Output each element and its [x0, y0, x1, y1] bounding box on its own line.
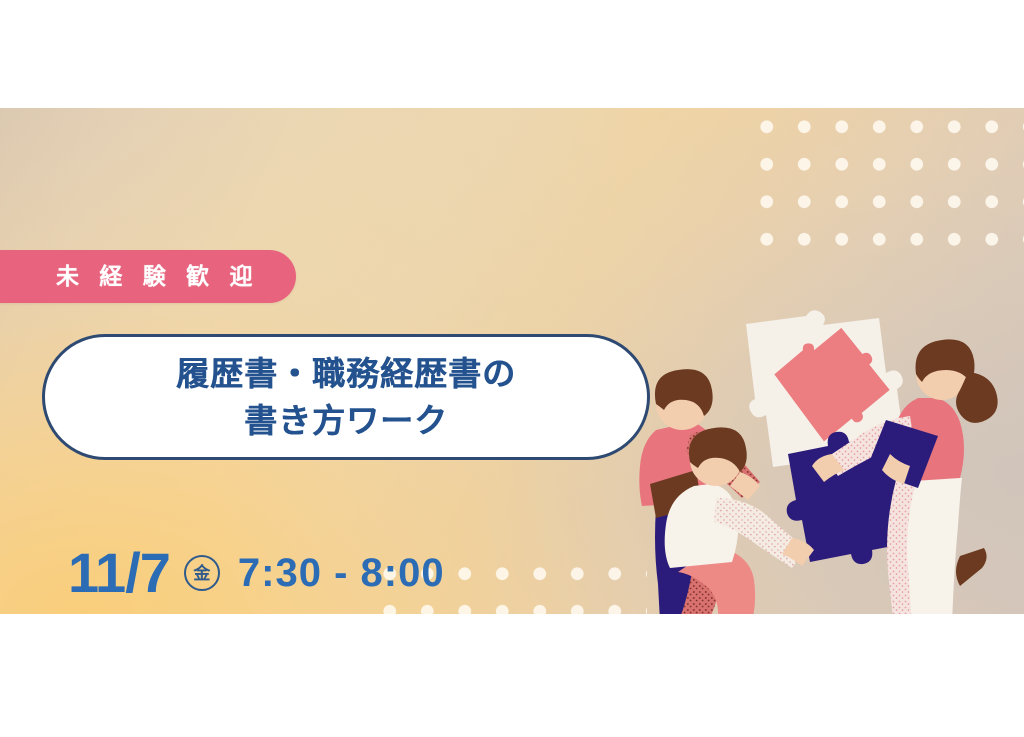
- event-time: 7:30 - 8:00: [238, 553, 445, 593]
- event-title-pill: 履歴書・職務経歴書の 書き方ワーク: [42, 334, 650, 460]
- weekday-circle-icon: 金: [184, 555, 220, 591]
- puzzle-people-illustration: [620, 308, 1024, 614]
- event-date: 11/7: [68, 545, 170, 601]
- event-title-line-1: 履歴書・職務経歴書の: [176, 353, 516, 394]
- status-badge: 未 経 験 歓 迎: [0, 250, 296, 303]
- status-badge-label: 未 経 験 歓 迎: [56, 265, 260, 288]
- event-title-line-2: 書き方ワーク: [244, 400, 448, 441]
- event-banner: 未 経 験 歓 迎 履歴書・職務経歴書の 書き方ワーク 11/7 金 7:30 …: [0, 108, 1024, 614]
- screenshot-root: 未 経 験 歓 迎 履歴書・職務経歴書の 書き方ワーク 11/7 金 7:30 …: [0, 0, 1024, 737]
- event-schedule-row: 11/7 金 7:30 - 8:00: [68, 545, 445, 601]
- weekday-label: 金: [193, 565, 210, 582]
- dot-pattern-top-right: [748, 108, 1024, 260]
